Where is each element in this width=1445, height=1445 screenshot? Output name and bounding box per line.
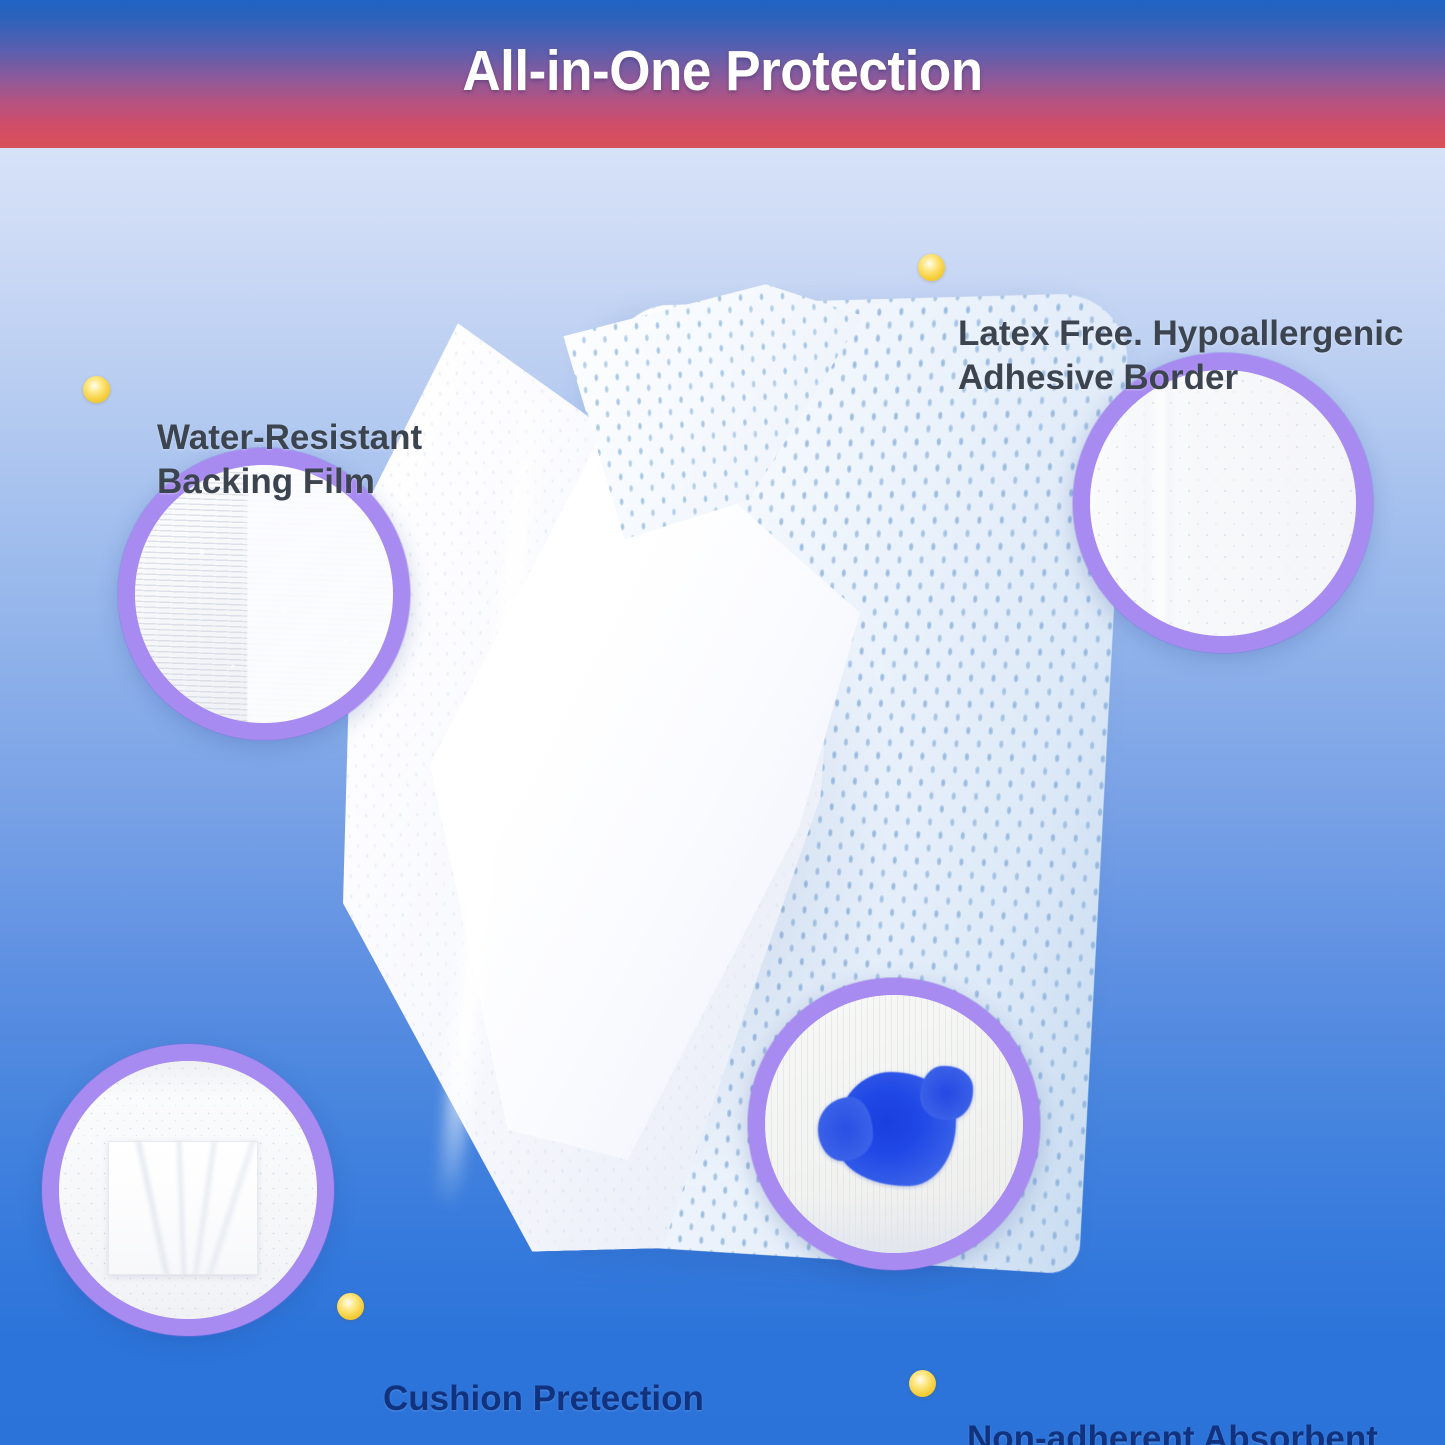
feature-label-text: Non-adherent Absorbent Wound Pads <box>967 1419 1378 1445</box>
feature-label-text: Latex Free. Hypoallergenic Adhesive Bord… <box>958 314 1403 398</box>
feature-label-adhesive-border: Latex Free. Hypoallergenic Adhesive Bord… <box>958 222 1403 401</box>
bullet-dot-icon <box>337 1293 364 1320</box>
feature-label-text: Water-Resistant Backing Film <box>157 418 422 502</box>
bullet-dot-icon <box>909 1370 936 1397</box>
wound-pad-texture <box>765 995 1023 1253</box>
feature-label-text: Cushion Pretection <box>383 1379 704 1418</box>
product-infographic: All-in-One Protection Water-Resis <box>0 0 1445 1445</box>
feature-label-absorbent-wound-pads: Non-adherent Absorbent Wound Pads <box>967 1327 1378 1445</box>
page-title: All-in-One Protection <box>51 0 1395 148</box>
callout-absorbent-wound-pad <box>748 978 1040 1270</box>
feature-label-cushion-protection: Cushion Pretection <box>383 1287 704 1421</box>
feature-label-water-resistant: Water-Resistant Backing Film <box>157 326 422 505</box>
cushion-pad-texture <box>59 1061 317 1319</box>
callout-cushion-pad <box>42 1044 334 1336</box>
bullet-dot-icon <box>83 376 110 403</box>
bullet-dot-icon <box>918 254 945 281</box>
adhesive-border-texture <box>1090 370 1356 636</box>
square-wound-pad <box>108 1141 258 1275</box>
blue-ink-blot-icon <box>837 1072 956 1186</box>
